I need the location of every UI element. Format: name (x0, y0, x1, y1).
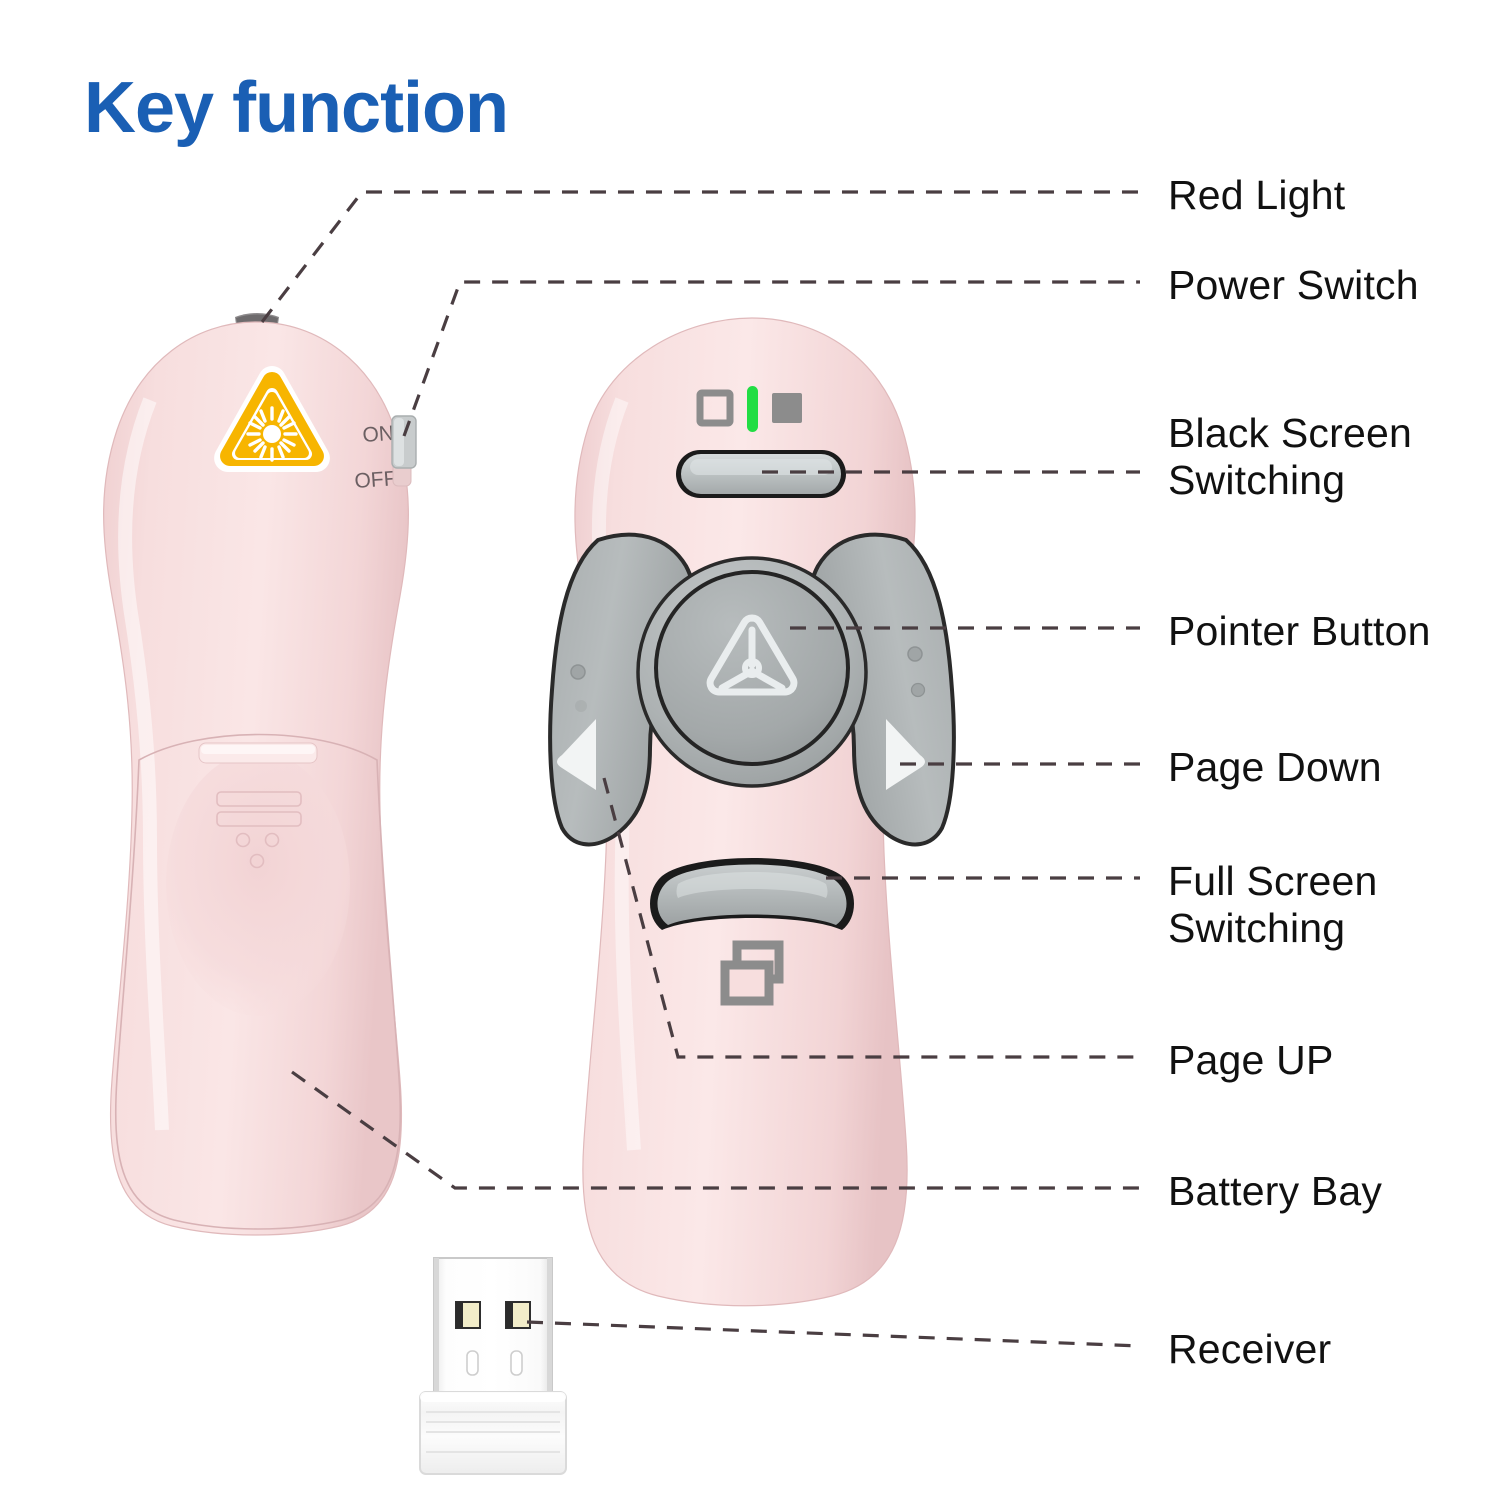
usb-nano-receiver (420, 1258, 566, 1474)
switch-off-label: OFF (354, 467, 398, 493)
texture-bump-4 (912, 684, 925, 697)
callout-label-full-screen-switching: Full Screen Switching (1168, 858, 1378, 952)
filled-square-icon (772, 393, 802, 423)
callout-label-battery-bay: Battery Bay (1168, 1168, 1382, 1215)
device-right-back-view (550, 318, 954, 1306)
leader-receiver (527, 1322, 1140, 1346)
texture-bump-3 (908, 647, 922, 661)
diagram-canvas: Key function (0, 0, 1500, 1500)
usb-notch-2 (511, 1351, 522, 1375)
callout-label-power-switch: Power Switch (1168, 262, 1419, 309)
switch-on-label: ON (362, 422, 395, 447)
callout-label-page-up: Page UP (1168, 1037, 1334, 1084)
callout-label-black-screen-switching: Black Screen Switching (1168, 410, 1412, 504)
device-left-front-view: ON OFF (104, 313, 416, 1235)
callout-label-page-down: Page Down (1168, 744, 1382, 791)
callout-label-pointer-button: Pointer Button (1168, 608, 1431, 655)
callout-label-red-light: Red Light (1168, 172, 1345, 219)
texture-bump-1 (571, 665, 585, 679)
callout-label-receiver: Receiver (1168, 1326, 1331, 1373)
texture-bump-2 (575, 700, 587, 712)
green-led-icon (747, 386, 758, 432)
leader-red-light (262, 192, 1140, 322)
pointer-button[interactable] (638, 558, 866, 786)
usb-notch-1 (467, 1351, 478, 1375)
black-screen-switch-button[interactable] (676, 450, 846, 498)
